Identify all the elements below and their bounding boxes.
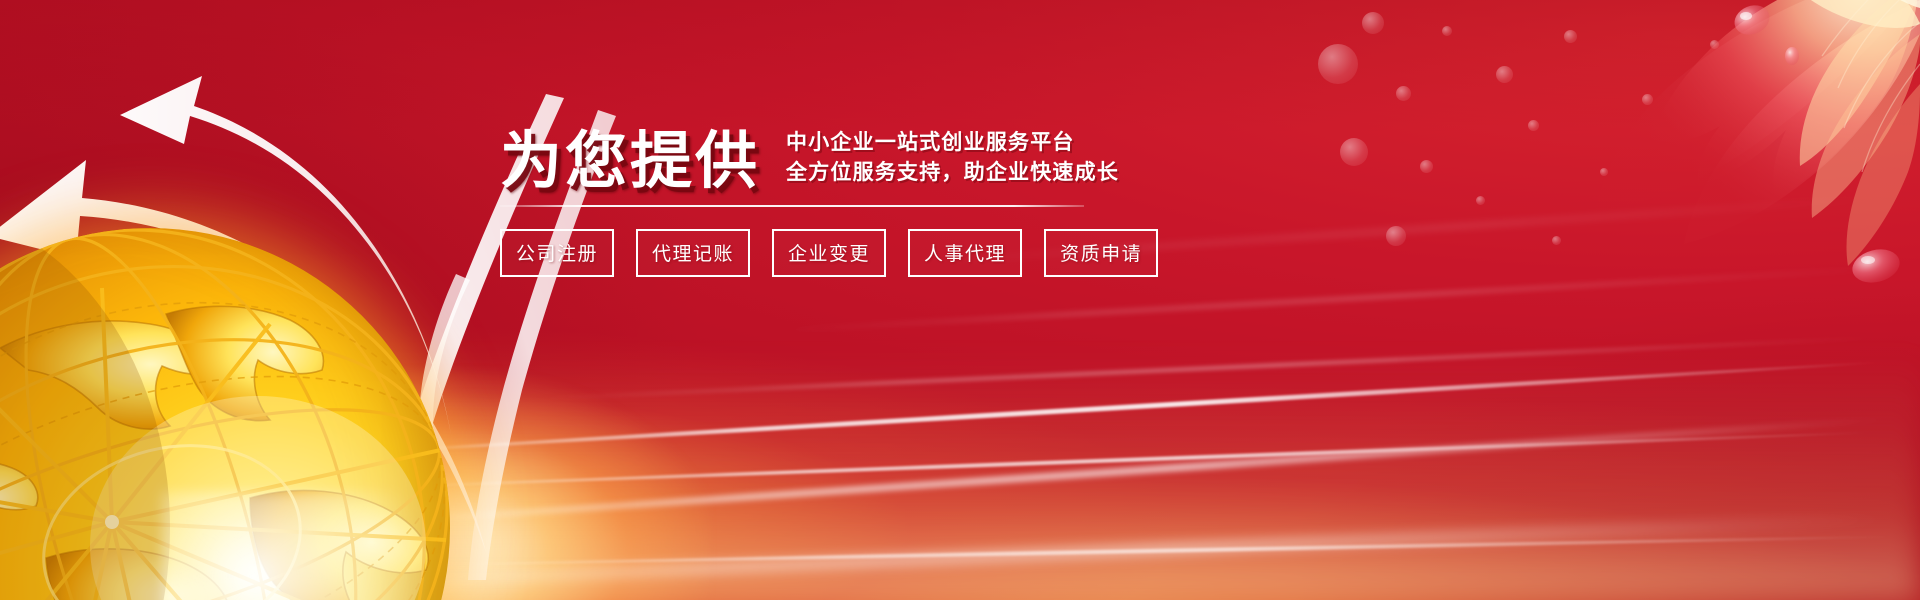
page-title: 为您提供 xyxy=(500,131,760,195)
service-tag-row: 公司注册 代理记账 企业变更 人事代理 资质申请 xyxy=(500,229,1120,277)
service-tag-agency-bookkeeping[interactable]: 代理记账 xyxy=(636,229,750,277)
globe-specular-highlight xyxy=(162,492,426,600)
service-tag-company-registration[interactable]: 公司注册 xyxy=(500,229,614,277)
subtitle-block: 中小企业一站式创业服务平台 全方位服务支持，助企业快速成长 xyxy=(786,128,1119,195)
promo-banner: 为您提供 中小企业一站式创业服务平台 全方位服务支持，助企业快速成长 公司注册 … xyxy=(0,0,1920,600)
headline-row: 为您提供 中小企业一站式创业服务平台 全方位服务支持，助企业快速成长 xyxy=(500,128,1120,195)
subtitle-line-2: 全方位服务支持，助企业快速成长 xyxy=(786,158,1119,188)
globe-graphic xyxy=(0,228,450,600)
divider xyxy=(500,205,1084,207)
service-tag-qualification-apply[interactable]: 资质申请 xyxy=(1044,229,1158,277)
banner-content: 为您提供 中小企业一站式创业服务平台 全方位服务支持，助企业快速成长 公司注册 … xyxy=(500,128,1120,277)
globe-sphere xyxy=(0,228,450,600)
service-tag-hr-agency[interactable]: 人事代理 xyxy=(908,229,1022,277)
service-tag-enterprise-change[interactable]: 企业变更 xyxy=(772,229,886,277)
bokeh-dots-decoration xyxy=(1300,0,1920,330)
subtitle-line-1: 中小企业一站式创业服务平台 xyxy=(786,128,1119,158)
